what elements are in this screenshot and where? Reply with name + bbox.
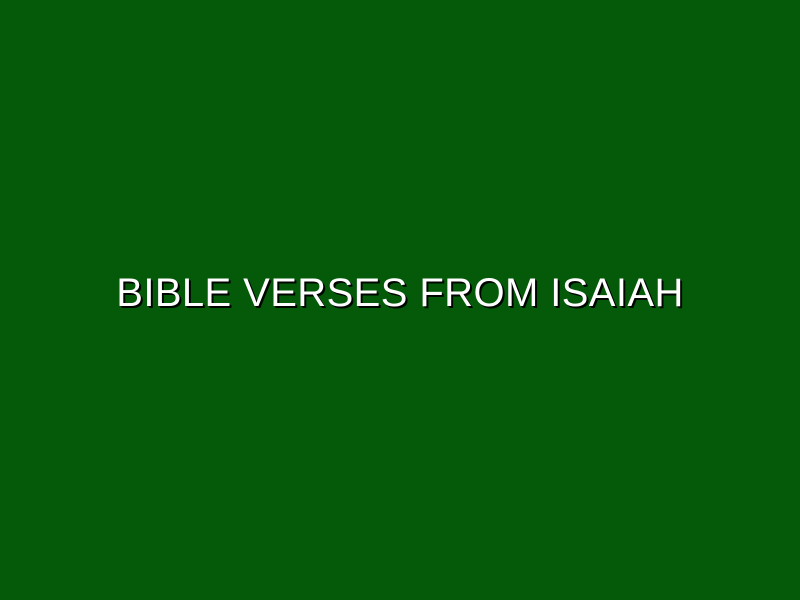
- title-block: BIBLE VERSES FROM ISAIAH: [0, 271, 800, 315]
- page-title: BIBLE VERSES FROM ISAIAH: [116, 271, 684, 315]
- title-banner: BIBLE VERSES FROM ISAIAH: [0, 0, 800, 600]
